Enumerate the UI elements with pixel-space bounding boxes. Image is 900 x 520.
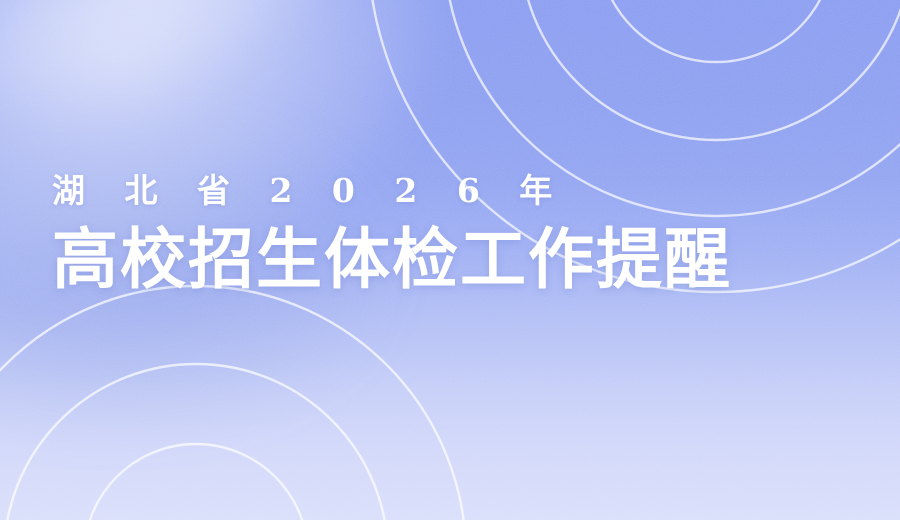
headline-block: 湖 北 省 2 0 2 6 年 高校招生体检工作提醒	[52, 168, 872, 298]
promo-banner: 湖 北 省 2 0 2 6 年 高校招生体检工作提醒	[0, 0, 900, 520]
banner-subtitle: 湖 北 省 2 0 2 6 年	[52, 168, 872, 214]
ring-group-bottom-left	[0, 286, 466, 520]
banner-title: 高校招生体检工作提醒	[52, 220, 872, 298]
